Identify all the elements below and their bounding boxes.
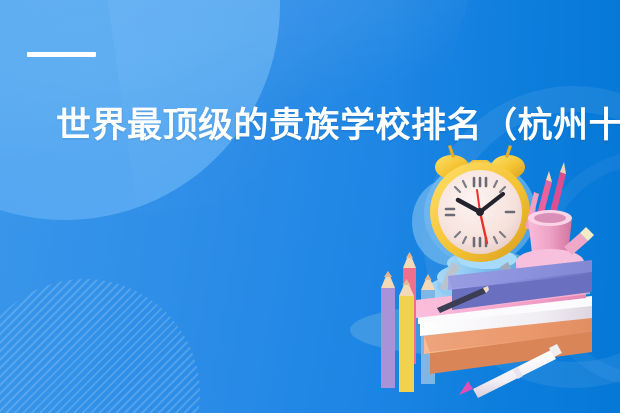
school-supplies-illustration bbox=[0, 0, 620, 413]
article-cover-banner: 世界最顶级的贵族学校排名（杭州十 bbox=[0, 0, 620, 413]
